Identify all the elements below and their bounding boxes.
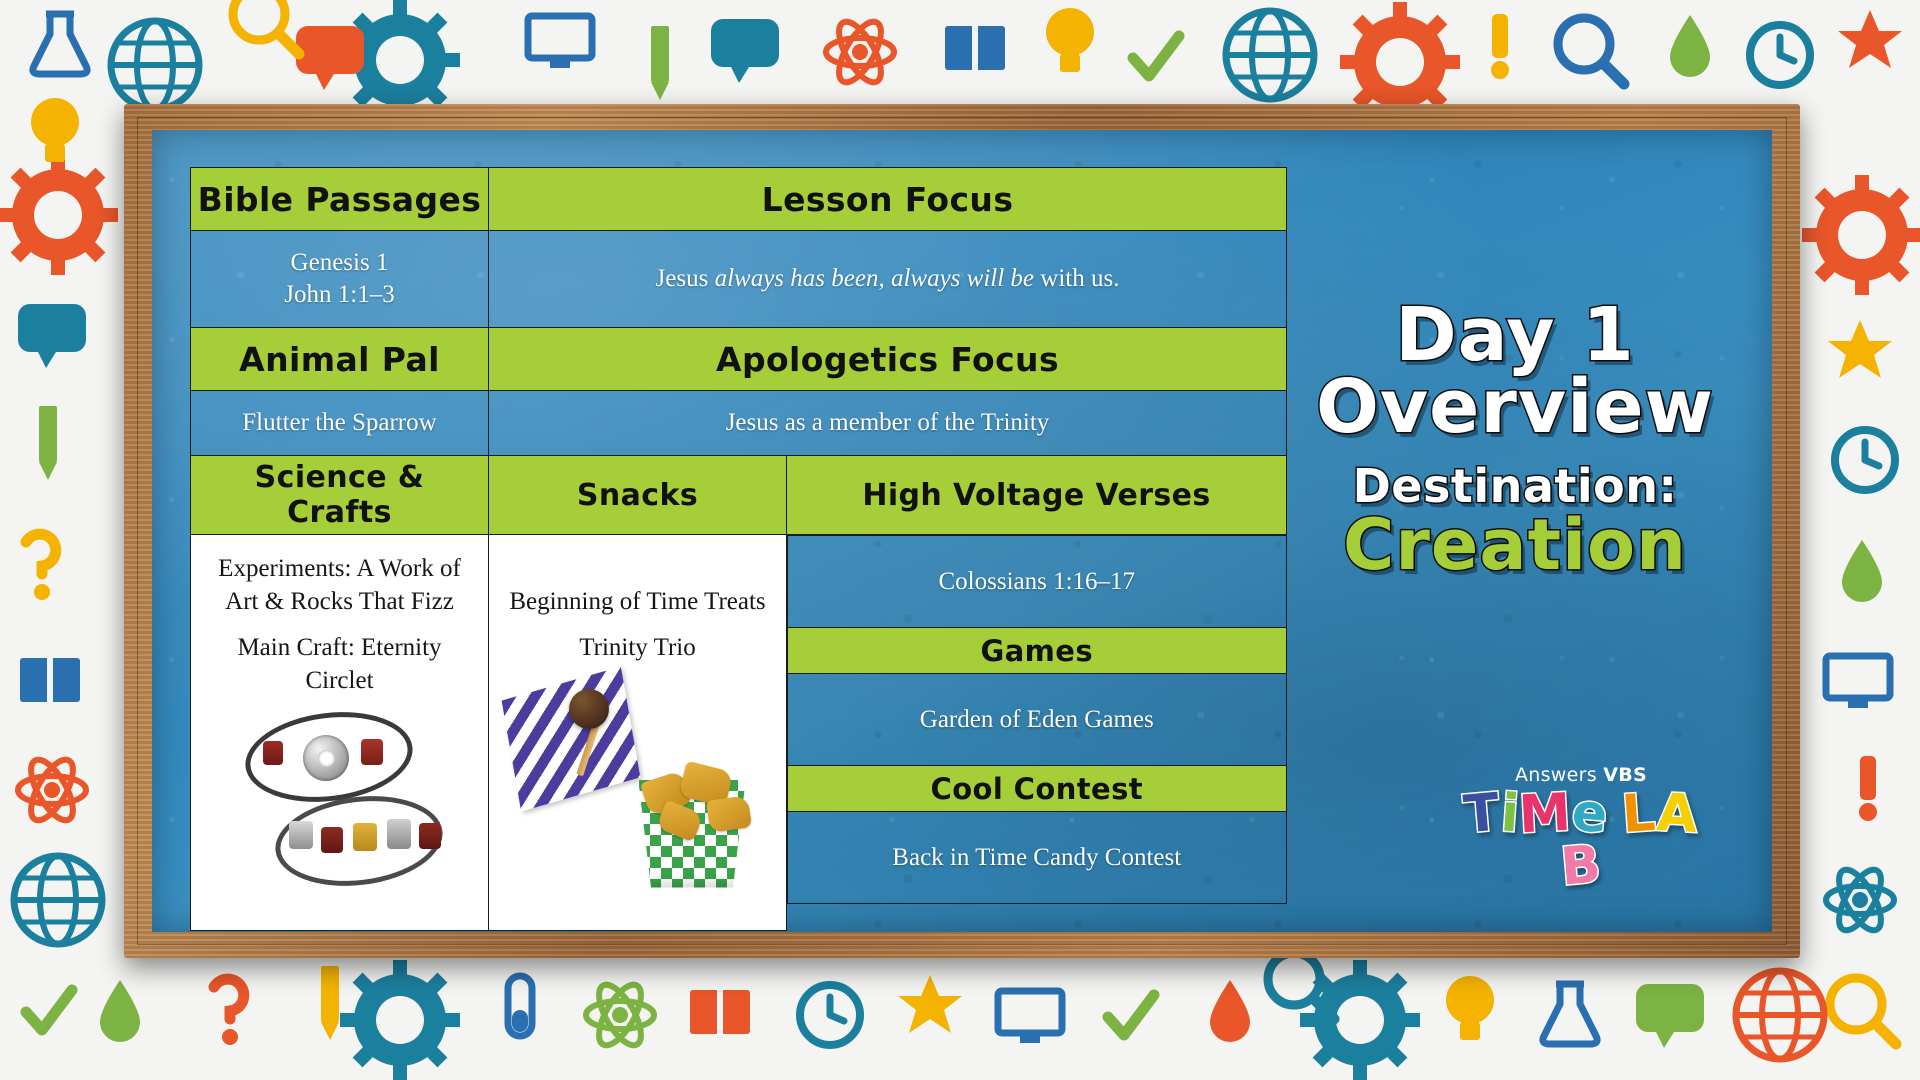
header-cool-contest: Cool Contest (788, 766, 1287, 812)
table-row: Science & Crafts Snacks High Voltage Ver… (191, 456, 1287, 535)
title-panel: Day 1 Overview Destination: Creation Ans… (1258, 130, 1772, 932)
logo-letter-b: B (1558, 838, 1603, 893)
cell-science-crafts: Experiments: A Work of Art & Rocks That … (191, 535, 489, 931)
header-animal-pal: Animal Pal (191, 328, 489, 391)
logo-letter-e: e (1570, 787, 1611, 842)
day-title: Day 1 (1258, 300, 1772, 370)
chevron-napkin (502, 666, 641, 811)
bead (289, 821, 313, 849)
cake-pop-ball (569, 689, 609, 729)
day-overview-table: Bible Passages Lesson Focus Genesis 1 Jo… (190, 167, 1287, 931)
header-apologetics-focus: Apologetics Focus (489, 328, 1287, 391)
cell-apologetics-focus: Jesus as a member of the Trinity (489, 391, 1287, 456)
table-row: Experiments: A Work of Art & Rocks That … (191, 535, 1287, 931)
wooden-picture-frame: Bible Passages Lesson Focus Genesis 1 Jo… (124, 104, 1800, 958)
cell-games: Garden of Eden Games (788, 674, 1287, 766)
brand-suffix: VBS (1603, 764, 1647, 786)
overview-table-area: Bible Passages Lesson Focus Genesis 1 Jo… (152, 130, 1258, 932)
logo-letter-l: L (1621, 787, 1659, 841)
cell-lesson-focus: Jesus always has been, always will be wi… (489, 231, 1287, 328)
lesson-focus-emphasis: always has been, always will be (715, 265, 1034, 292)
right-subtable: Colossians 1:16–17 Games Garden of Eden … (787, 535, 1287, 904)
bead (353, 823, 377, 851)
header-games: Games (788, 628, 1287, 674)
table-row: Bible Passages Lesson Focus (191, 168, 1287, 231)
bead (387, 819, 411, 849)
header-high-voltage-verses: High Voltage Verses (787, 456, 1287, 535)
header-snacks: Snacks (489, 456, 787, 535)
logo-letter-a: A (1655, 787, 1699, 841)
lesson-focus-prefix: Jesus (656, 265, 715, 292)
header-science-crafts: Science & Crafts (191, 456, 489, 535)
table-row: Animal Pal Apologetics Focus (191, 328, 1287, 391)
table-row: Genesis 1 John 1:1–3 Jesus always has be… (191, 231, 1287, 328)
header-bible-passages: Bible Passages (191, 168, 489, 231)
metal-ring (303, 735, 349, 781)
snack-artwork (501, 673, 774, 888)
cell-animal-pal: Flutter the Sparrow (191, 391, 489, 456)
blue-board-surface: Bible Passages Lesson Focus Genesis 1 Jo… (152, 130, 1772, 932)
bead (321, 827, 343, 853)
time-lab-wordmark: TiMeLAB (1446, 788, 1716, 892)
logo-letter-t: T (1462, 787, 1503, 842)
experiments-text: Experiments: A Work of Art & Rocks That … (203, 553, 476, 618)
answers-vbs-time-lab-logo: Answers VBS TiMeLAB (1446, 764, 1716, 892)
lesson-focus-suffix: with us. (1034, 265, 1119, 292)
main-craft-text: Main Craft: Eternity Circlet (203, 632, 476, 697)
table-row: Garden of Eden Games (788, 674, 1287, 766)
cell-cool-contest: Back in Time Candy Contest (788, 812, 1287, 904)
table-row: Flutter the Sparrow Jesus as a member of… (191, 391, 1287, 456)
destination-value: Creation (1258, 512, 1772, 579)
table-row: Games (788, 628, 1287, 674)
destination-label: Destination: (1258, 465, 1772, 509)
cell-bible-passages: Genesis 1 John 1:1–3 (191, 231, 489, 328)
bead (419, 823, 441, 849)
bible-passage-line-1: Genesis 1 (201, 247, 478, 279)
cell-high-voltage-verse: Colossians 1:16–17 (788, 536, 1287, 628)
table-row: Back in Time Candy Contest (788, 812, 1287, 904)
logo-letter-m: M (1518, 787, 1573, 842)
cell-snacks: Beginning of Time Treats Trinity Trio (489, 535, 787, 931)
snack-line-1: Beginning of Time Treats (501, 586, 774, 619)
bible-passage-line-2: John 1:1–3 (201, 279, 478, 311)
eternity-circlet-artwork (203, 705, 476, 920)
table-row: Colossians 1:16–17 (788, 536, 1287, 628)
bead (263, 741, 283, 765)
overview-title: Overview (1258, 372, 1772, 442)
snack-line-2: Trinity Trio (501, 632, 774, 665)
table-row: Cool Contest (788, 766, 1287, 812)
bead (361, 739, 383, 765)
header-lesson-focus: Lesson Focus (489, 168, 1287, 231)
cell-right-column: Colossians 1:16–17 Games Garden of Eden … (787, 535, 1287, 931)
tortilla-chip (706, 795, 752, 833)
